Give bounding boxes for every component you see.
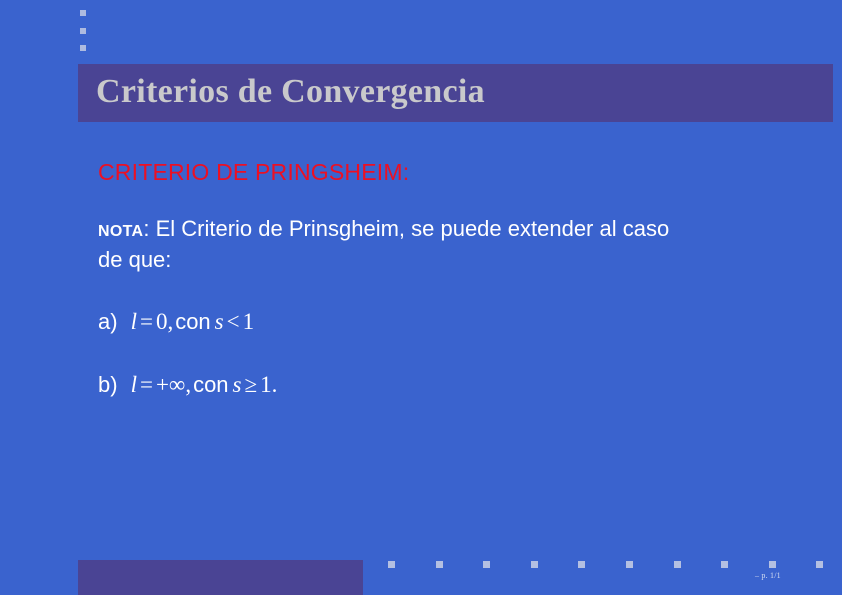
nav-dot-10[interactable] <box>816 561 823 568</box>
item-marker-a: a) <box>98 309 118 334</box>
corner-dot-icon <box>80 28 86 34</box>
criterion-heading: CRITERIO DE PRINGSHEIM: <box>98 158 798 186</box>
nav-dot-8[interactable] <box>721 561 728 568</box>
math-period: . <box>272 372 278 397</box>
corner-dot-icon <box>80 45 86 51</box>
nav-dot-7[interactable] <box>674 561 681 568</box>
slide-title: Criterios de Convergencia <box>96 73 485 111</box>
item-marker-b: b) <box>98 372 118 397</box>
slide-navigation-dots[interactable] <box>388 561 828 571</box>
slide-content: CRITERIO DE PRINGSHEIM: NOTA: El Criteri… <box>98 158 798 400</box>
math-bound: 1 <box>243 309 255 334</box>
nav-dot-5[interactable] <box>578 561 585 568</box>
nav-dot-3[interactable] <box>483 561 490 568</box>
math-var-l: l <box>131 309 137 334</box>
math-word-con: con <box>173 309 214 334</box>
math-equals: = <box>137 309 156 334</box>
math-var-l: l <box>131 372 137 397</box>
footer-accent-bar <box>78 560 363 595</box>
nav-dot-9[interactable] <box>769 561 776 568</box>
nav-dot-2[interactable] <box>436 561 443 568</box>
math-value: 0 <box>156 309 168 334</box>
math-expression-b: l=+∞,cons≥1. <box>131 372 278 397</box>
corner-dot-icon <box>80 10 86 16</box>
note-label: NOTA <box>98 223 143 240</box>
math-word-con: con <box>191 372 232 397</box>
math-relation: < <box>224 309 243 334</box>
nav-dot-4[interactable] <box>531 561 538 568</box>
note-paragraph: NOTA: El Criterio de Prinsgheim, se pued… <box>98 215 678 274</box>
math-var-s: s <box>233 372 242 397</box>
page-number: – p. 1/1 <box>755 571 781 580</box>
note-colon: : <box>143 216 149 241</box>
presentation-slide: Criterios de Convergencia CRITERIO DE PR… <box>0 0 842 595</box>
nav-dot-1[interactable] <box>388 561 395 568</box>
slide-title-bar: Criterios de Convergencia <box>78 64 833 122</box>
math-relation: ≥ <box>242 372 261 397</box>
math-equals: = <box>137 372 156 397</box>
corner-dots-decoration <box>80 8 90 54</box>
note-text: El Criterio de Prinsgheim, se puede exte… <box>98 216 669 272</box>
math-value-infinity: +∞ <box>156 372 185 397</box>
nav-dot-6[interactable] <box>626 561 633 568</box>
math-expression-a: l=0,cons<1 <box>131 309 255 334</box>
math-bound: 1 <box>260 372 272 397</box>
list-item: a)l=0,cons<1 <box>98 307 798 337</box>
math-var-s: s <box>215 309 224 334</box>
list-item: b)l=+∞,cons≥1. <box>98 370 798 400</box>
